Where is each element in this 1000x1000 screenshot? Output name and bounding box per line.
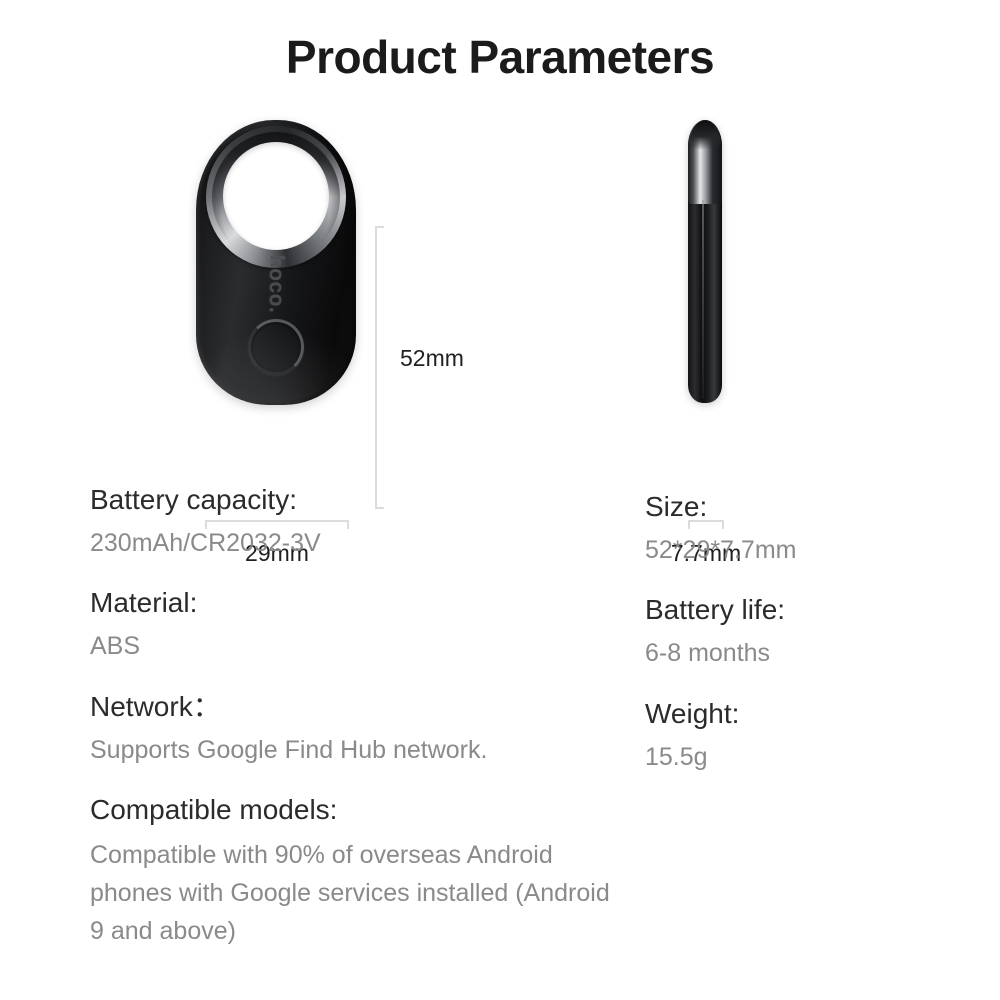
spec-value: 230mAh/CR2032-3V	[90, 526, 610, 562]
side-body	[688, 120, 722, 403]
hoco-tracker-front-view: hoco.	[196, 120, 356, 405]
spec-column-left: Battery capacity: 230mAh/CR2032-3V Mater…	[90, 482, 610, 950]
spec-item-weight: Weight: 15.5g	[645, 696, 975, 775]
side-seam-line	[702, 200, 704, 399]
spec-label: Weight:	[645, 696, 975, 733]
height-dimension-line	[375, 226, 384, 509]
side-cap-top-shade	[690, 120, 720, 150]
spec-item-network: Network： Supports Google Find Hub networ…	[90, 689, 610, 768]
page-title: Product Parameters	[0, 30, 1000, 84]
spec-label: Size:	[645, 489, 975, 526]
spec-value: 15.5g	[645, 740, 975, 776]
keyring-hole	[223, 142, 329, 250]
spec-item-material: Material: ABS	[90, 585, 610, 664]
spec-value: 6-8 months	[645, 636, 975, 672]
brand-logo: hoco.	[264, 255, 288, 314]
hoco-tracker-side-view	[688, 120, 722, 403]
product-parameters-page: Product Parameters hoco. 52mm	[0, 0, 1000, 1000]
spec-value: Compatible with 90% of overseas Android …	[90, 836, 610, 950]
spec-column-right: Size: 52*29*7.7mm Battery life: 6-8 mont…	[645, 489, 975, 775]
spec-item-compatible-models: Compatible models: Compatible with 90% o…	[90, 792, 610, 950]
spec-label: Compatible models:	[90, 792, 610, 829]
spec-item-size: Size: 52*29*7.7mm	[645, 489, 975, 568]
tracker-body: hoco.	[196, 120, 356, 405]
product-image-area: hoco. 52mm 29mm 7.7mm	[0, 112, 1000, 462]
side-metallic-cap	[688, 120, 722, 204]
spec-value: ABS	[90, 629, 610, 665]
spec-item-battery-life: Battery life: 6-8 months	[645, 592, 975, 671]
spec-value: 52*29*7.7mm	[645, 533, 975, 569]
spec-value: Supports Google Find Hub network.	[90, 733, 610, 769]
spec-label: Battery capacity:	[90, 482, 610, 519]
spec-label: Material:	[90, 585, 610, 622]
spec-label: Battery life:	[645, 592, 975, 629]
height-dimension-label: 52mm	[400, 345, 464, 372]
spec-label: Network：	[90, 689, 610, 726]
spec-item-battery-capacity: Battery capacity: 230mAh/CR2032-3V	[90, 482, 610, 561]
tracker-button-icon	[248, 319, 304, 375]
